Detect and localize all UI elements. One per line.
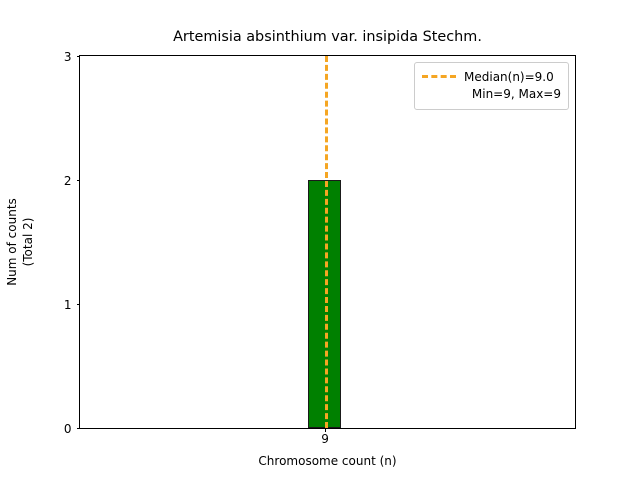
x-axis-label: Chromosome count (n): [79, 455, 576, 467]
dashed-line-icon: [422, 75, 456, 78]
y-axis-label-container: Num of counts (Total 2): [0, 55, 40, 429]
y-axis-label-line1: Num of counts: [4, 198, 20, 286]
legend-item-median: Median(n)=9.0: [422, 68, 561, 85]
y-axis-tick-label: 3: [64, 51, 72, 63]
y-axis-label-line2: (Total 2): [20, 198, 36, 286]
y-axis-tick: 1: [77, 304, 81, 305]
y-axis-tick: 2: [77, 180, 81, 181]
y-axis-label: Num of counts (Total 2): [4, 198, 36, 286]
plot-area: 0 1 2 3 9 Median(n)=9.0 Min=9, Max=9: [79, 55, 576, 429]
x-axis-tick-label: 9: [321, 433, 329, 445]
legend-item-minmax: Min=9, Max=9: [422, 85, 561, 103]
median-line: [325, 56, 328, 428]
y-axis-tick-label: 0: [64, 423, 72, 435]
y-axis-tick-label: 2: [64, 175, 72, 187]
legend-label: Median(n)=9.0: [464, 71, 554, 83]
legend[interactable]: Median(n)=9.0 Min=9, Max=9: [414, 62, 569, 110]
y-axis-tick-label: 1: [64, 299, 72, 311]
page-title: Artemisia absinthium var. insipida Stech…: [79, 30, 576, 44]
legend-label: Min=9, Max=9: [472, 88, 561, 100]
x-axis-tick: [325, 428, 326, 432]
y-axis-tick: 3: [77, 56, 81, 57]
y-axis-tick: 0: [77, 428, 81, 429]
chart-figure: Artemisia absinthium var. insipida Stech…: [0, 0, 640, 480]
